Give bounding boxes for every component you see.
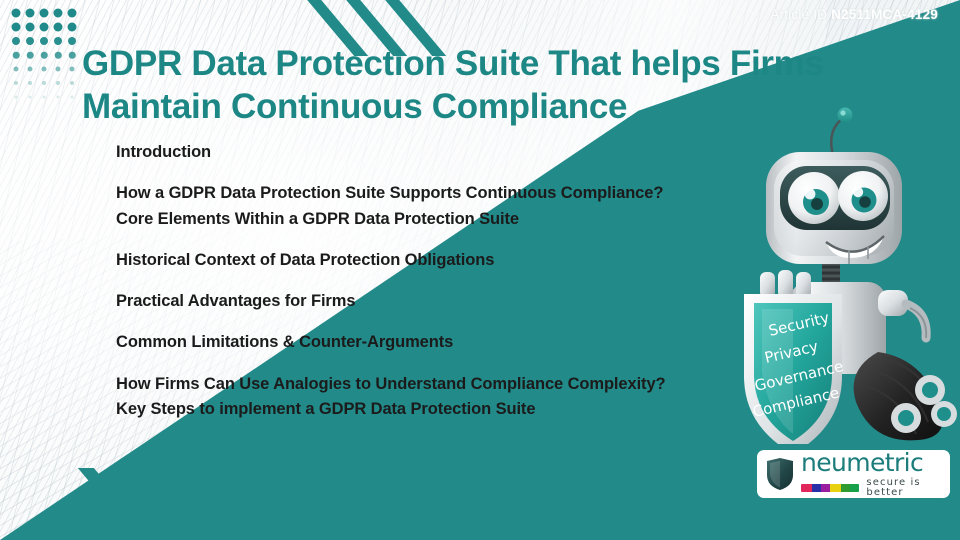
table-of-contents: Introduction How a GDPR Data Protection … <box>116 141 686 420</box>
robot-mascot-icon: Security Privacy Governance Compliance <box>718 104 960 444</box>
article-id: Article ID N2511MCA-4129 <box>770 7 938 22</box>
article-id-label: Article ID <box>770 7 827 22</box>
toc-item[interactable]: How a GDPR Data Protection Suite Support… <box>116 182 686 204</box>
article-id-value: N2511MCA-4129 <box>831 7 938 22</box>
logo-wordmark: neumetric <box>801 450 942 475</box>
toc-item[interactable]: Core Elements Within a GDPR Data Protect… <box>116 208 686 230</box>
toc-item[interactable]: Common Limitations & Counter-Arguments <box>116 331 686 353</box>
logo-subline: secure is better <box>801 478 942 498</box>
shield-icon <box>765 457 795 491</box>
toc-item[interactable]: Introduction <box>116 141 686 163</box>
toc-item[interactable]: Historical Context of Data Protection Ob… <box>116 249 686 271</box>
diagonal-stripes-bottom-icon <box>120 468 270 540</box>
logo-text-group: neumetric secure is better <box>801 450 942 498</box>
diagonal-stripes-top-icon <box>318 0 448 40</box>
slide-canvas: Article ID N2511MCA-4129 GDPR Data Prote… <box>0 0 960 540</box>
toc-item[interactable]: Key Steps to implement a GDPR Data Prote… <box>116 398 686 420</box>
logo-color-bar-icon <box>801 484 859 492</box>
toc-item[interactable]: Practical Advantages for Firms <box>116 290 686 312</box>
toc-item[interactable]: How Firms Can Use Analogies to Understan… <box>116 373 686 395</box>
neumetric-logo[interactable]: neumetric secure is better <box>757 450 950 498</box>
dot-grid-icon <box>9 6 79 104</box>
logo-tagline: secure is better <box>866 478 942 498</box>
